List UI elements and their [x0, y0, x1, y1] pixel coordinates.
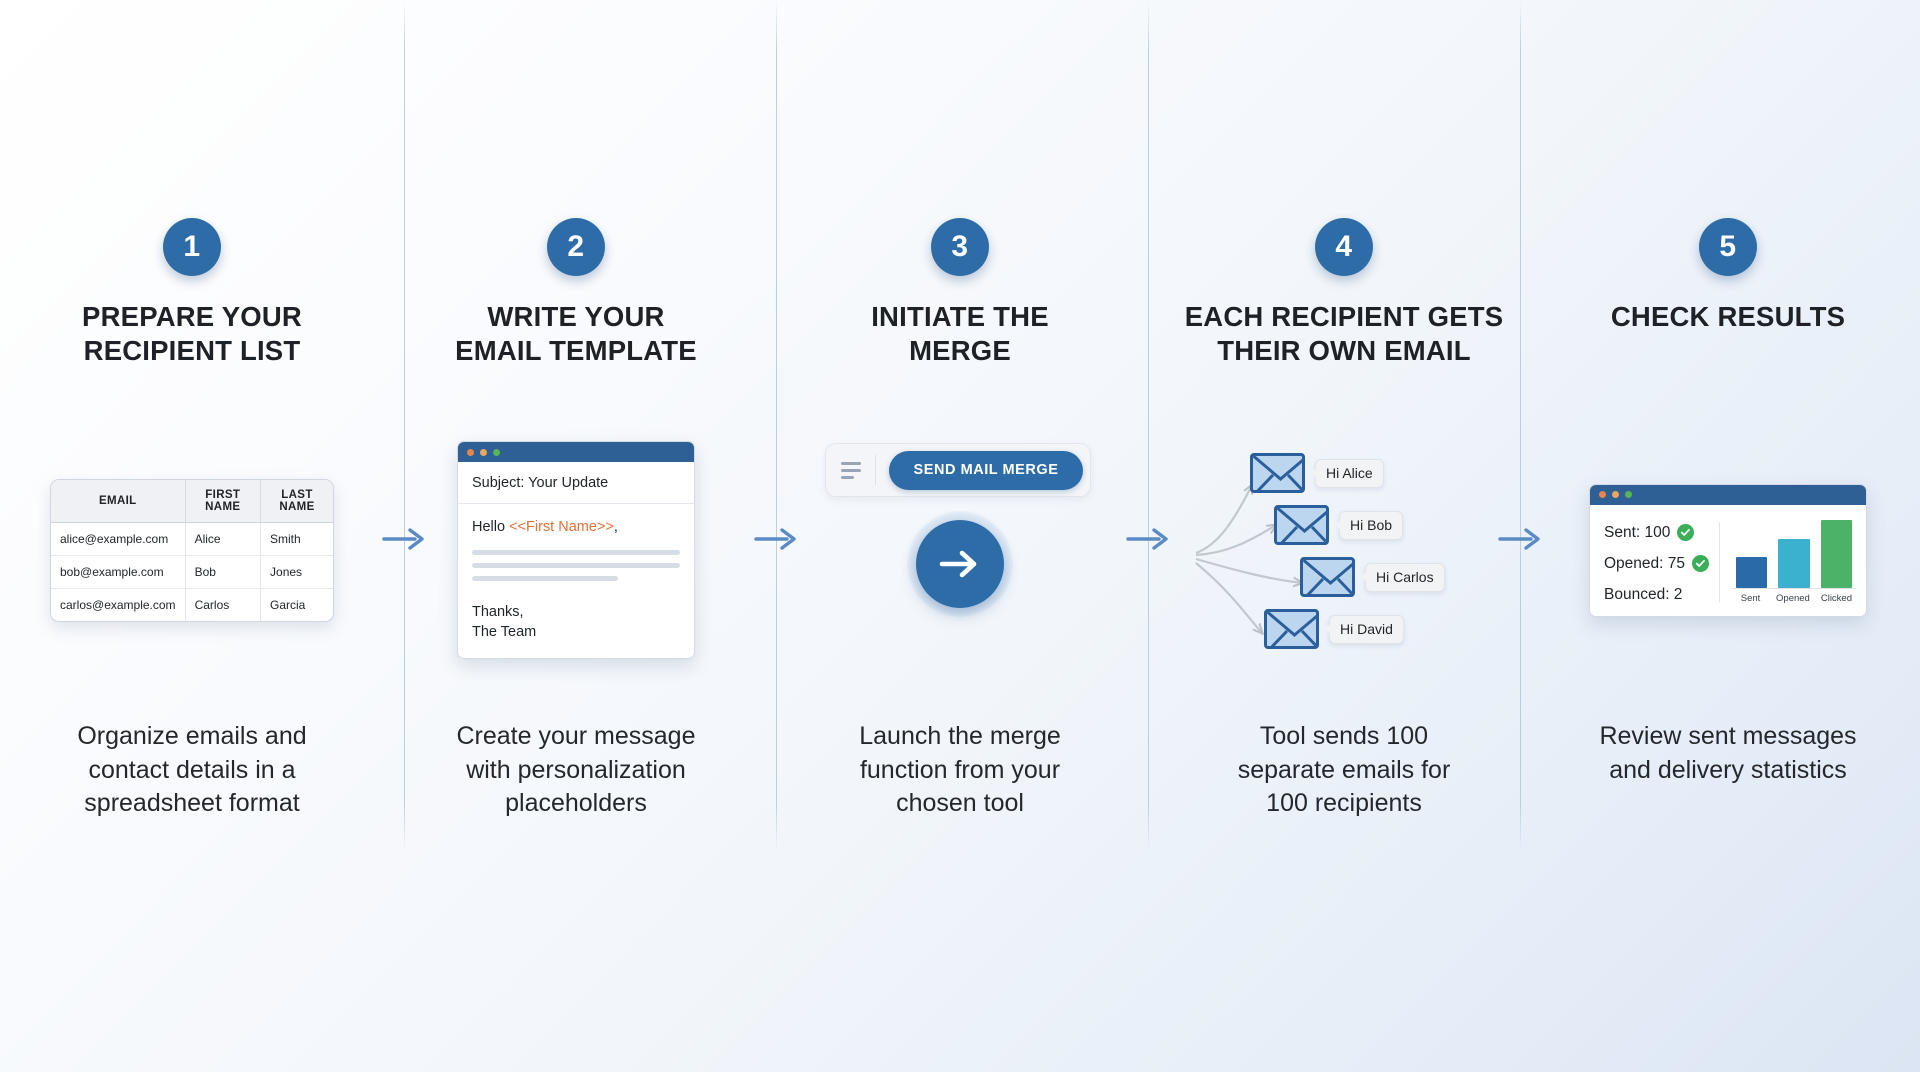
body-line — [472, 576, 618, 581]
check-icon — [1695, 558, 1706, 569]
chart-separator — [1719, 522, 1720, 602]
envelope-flap-icon — [1267, 612, 1319, 649]
window-title-bar — [458, 442, 694, 462]
cell-email: alice@example.com — [51, 522, 185, 555]
cell-last-name: Smith — [261, 522, 333, 555]
step-number-badge-1: 1 — [163, 218, 221, 276]
email-greeting: Hello <<First Name>>, — [472, 519, 680, 535]
results-window: Sent: 100 Opened: 75 Bounc — [1589, 484, 1867, 617]
recipient-spreadsheet: EMAIL FIRST NAME LAST NAME alice@example… — [50, 479, 334, 622]
stat-bounced: Bounced: 2 — [1604, 586, 1709, 604]
maximize-dot-icon[interactable] — [1625, 491, 1632, 498]
step-4: 4 EACH RECIPIENT GETS THEIR OWN EMAIL — [1152, 0, 1536, 860]
results-body: Sent: 100 Opened: 75 Bounc — [1590, 505, 1866, 616]
chart-plot-area — [1732, 520, 1856, 589]
body-line — [472, 563, 680, 568]
table-row: bob@example.com Bob Jones — [51, 555, 333, 588]
step-description-5: Review sent messages and delivery statis… — [1536, 720, 1920, 787]
delivery-stats-list: Sent: 100 Opened: 75 Bounc — [1604, 520, 1709, 604]
cell-last-name: Garcia — [261, 588, 333, 621]
check-circle-icon — [1692, 555, 1709, 572]
envelope-icon — [1250, 453, 1305, 493]
step-heading-4: EACH RECIPIENT GETS THEIR OWN EMAIL — [1152, 300, 1536, 367]
greeting-suffix: , — [614, 519, 618, 535]
step-visual-4: Hi Alice Hi Bob — [1152, 410, 1536, 690]
close-dot-icon[interactable] — [1599, 491, 1606, 498]
step-description-3: Launch the merge function from your chos… — [768, 720, 1152, 821]
merge-toolbar: SEND MAIL MERGE — [825, 443, 1091, 497]
x-label-opened: Opened — [1776, 593, 1810, 604]
step-description-4: Tool sends 100 separate emails for 100 r… — [1152, 720, 1536, 821]
email-signature: Thanks, The Team — [472, 603, 680, 641]
step-number-badge-2: 2 — [547, 218, 605, 276]
cell-email: carlos@example.com — [51, 588, 185, 621]
body-line — [472, 550, 680, 555]
envelope-icon — [1274, 505, 1329, 545]
email-fanout-group: Hi Alice Hi Bob — [1194, 425, 1494, 675]
results-bar-chart: Sent Opened Clicked — [1732, 520, 1856, 604]
step-number-badge-4: 4 — [1315, 218, 1373, 276]
window-title-bar — [1590, 485, 1866, 505]
email-subject-line: Subject: Your Update — [458, 462, 694, 504]
bar-clicked — [1821, 520, 1852, 588]
cell-last-name: Jones — [261, 555, 333, 588]
bar-opened — [1778, 539, 1809, 588]
x-label-clicked: Clicked — [1821, 593, 1852, 604]
recipient-email-3: Hi Carlos — [1300, 557, 1445, 597]
step-visual-3: SEND MAIL MERGE — [768, 410, 1152, 690]
step-2: 2 WRITE YOUR EMAIL TEMPLATE Subject: You… — [384, 0, 768, 860]
step-heading-1: PREPARE YOUR RECIPIENT LIST — [0, 300, 384, 367]
toolbar-divider — [875, 455, 876, 485]
step-number-1: 1 — [183, 230, 200, 264]
bar-sent — [1736, 557, 1767, 588]
cell-email: bob@example.com — [51, 555, 185, 588]
column-header-last-name: LAST NAME — [261, 480, 333, 523]
send-mail-merge-button[interactable]: SEND MAIL MERGE — [889, 451, 1083, 490]
stat-sent: Sent: 100 — [1604, 524, 1709, 542]
recipient-table: EMAIL FIRST NAME LAST NAME alice@example… — [51, 480, 333, 621]
step-heading-5: CHECK RESULTS — [1536, 300, 1920, 334]
step-heading-3: INITIATE THE MERGE — [768, 300, 1152, 367]
steps-container: 1 PREPARE YOUR RECIPIENT LIST EMAIL FIRS… — [0, 0, 1920, 860]
step-5: 5 CHECK RESULTS Sent: 100 — [1536, 0, 1920, 860]
cell-first-name: Bob — [185, 555, 260, 588]
envelope-flap-icon — [1277, 508, 1329, 545]
email-template-window: Subject: Your Update Hello <<First Name>… — [457, 441, 695, 658]
step-description-1: Organize emails and contact details in a… — [0, 720, 384, 821]
minimize-dot-icon[interactable] — [480, 449, 487, 456]
table-header-row: EMAIL FIRST NAME LAST NAME — [51, 480, 333, 523]
bubble-label: Hi Carlos — [1365, 563, 1445, 592]
bubble-label: Hi David — [1329, 615, 1404, 644]
recipient-email-2: Hi Bob — [1274, 505, 1403, 545]
table-row: alice@example.com Alice Smith — [51, 522, 333, 555]
stat-label: Opened: 75 — [1604, 555, 1685, 573]
stat-opened: Opened: 75 — [1604, 555, 1709, 573]
launch-merge-button[interactable] — [916, 520, 1004, 608]
step-visual-1: EMAIL FIRST NAME LAST NAME alice@example… — [0, 410, 384, 690]
maximize-dot-icon[interactable] — [493, 449, 500, 456]
x-label-sent: Sent — [1736, 593, 1765, 604]
step-3: 3 INITIATE THE MERGE SEND MAIL MERGE Lau… — [768, 0, 1152, 860]
step-number-badge-5: 5 — [1699, 218, 1757, 276]
chart-x-axis-labels: Sent Opened Clicked — [1732, 589, 1856, 604]
greeting-prefix: Hello — [472, 519, 509, 535]
bubble-label: Hi Bob — [1339, 511, 1403, 540]
step-number-3: 3 — [951, 230, 968, 264]
step-number-4: 4 — [1335, 230, 1352, 264]
cell-first-name: Carlos — [185, 588, 260, 621]
check-circle-icon — [1677, 524, 1694, 541]
step-number-badge-3: 3 — [931, 218, 989, 276]
column-header-email: EMAIL — [51, 480, 185, 523]
step-visual-2: Subject: Your Update Hello <<First Name>… — [384, 410, 768, 690]
step-1: 1 PREPARE YOUR RECIPIENT LIST EMAIL FIRS… — [0, 0, 384, 860]
hamburger-icon[interactable] — [841, 462, 861, 479]
bubble-label: Hi Alice — [1315, 459, 1384, 488]
minimize-dot-icon[interactable] — [1612, 491, 1619, 498]
arrow-right-icon — [937, 547, 983, 581]
step-description-2: Create your message with personalization… — [384, 720, 768, 821]
cell-first-name: Alice — [185, 522, 260, 555]
step-number-5: 5 — [1719, 230, 1736, 264]
step-number-2: 2 — [567, 230, 584, 264]
envelope-icon — [1264, 609, 1319, 649]
check-icon — [1680, 527, 1691, 538]
recipient-email-4: Hi David — [1264, 609, 1404, 649]
merge-control-group: SEND MAIL MERGE — [825, 425, 1095, 675]
recipient-email-1: Hi Alice — [1250, 453, 1384, 493]
table-row: carlos@example.com Carlos Garcia — [51, 588, 333, 621]
stat-label: Sent: 100 — [1604, 524, 1670, 542]
column-header-first-name: FIRST NAME — [185, 480, 260, 523]
envelope-icon — [1300, 557, 1355, 597]
step-visual-5: Sent: 100 Opened: 75 Bounc — [1536, 410, 1920, 690]
email-body: Hello <<First Name>>, Thanks, The Team — [458, 504, 694, 657]
close-dot-icon[interactable] — [467, 449, 474, 456]
email-body-placeholder-lines — [472, 550, 680, 581]
stat-label: Bounced: 2 — [1604, 586, 1682, 604]
step-heading-2: WRITE YOUR EMAIL TEMPLATE — [384, 300, 768, 367]
merge-placeholder-token: <<First Name>> — [509, 519, 614, 535]
envelope-flap-icon — [1253, 456, 1305, 493]
envelope-flap-icon — [1303, 560, 1355, 597]
